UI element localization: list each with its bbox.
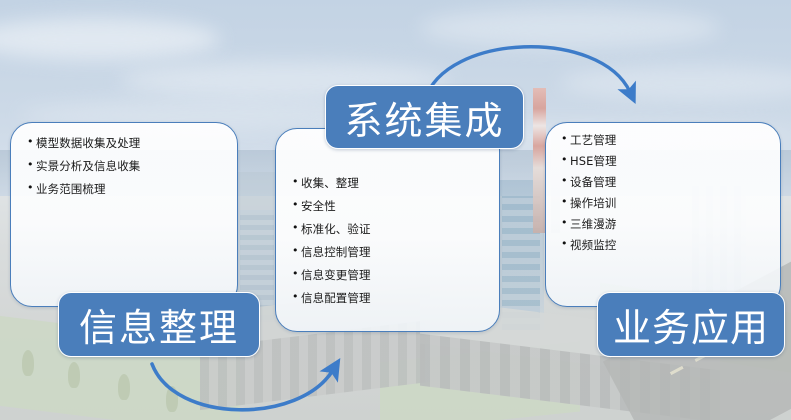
panel-body: 工艺管理 HSE管理 设备管理 操作培训 三维漫游 视频监控 (546, 123, 780, 270)
chip-business-application[interactable]: 业务应用 (597, 292, 785, 357)
bullet-list-information-organization: 模型数据收集及处理 实景分析及信息收集 业务范围梳理 (27, 137, 223, 195)
background-tree (166, 386, 178, 412)
list-item: HSE管理 (561, 155, 766, 167)
list-item: 工艺管理 (561, 134, 766, 146)
panel-body: 收集、整理 安全性 标准化、验证 信息控制管理 信息变更管理 信息配置管理 (276, 129, 499, 325)
list-item: 三维漫游 (561, 218, 766, 230)
list-item: 业务范围梳理 (27, 183, 223, 195)
background-tree (22, 350, 34, 376)
chip-system-integration[interactable]: 系统集成 (325, 85, 524, 149)
panel-system-integration[interactable]: 收集、整理 安全性 标准化、验证 信息控制管理 信息变更管理 信息配置管理 (275, 128, 500, 332)
panel-body: 模型数据收集及处理 实景分析及信息收集 业务范围梳理 (11, 123, 237, 216)
panel-information-organization[interactable]: 模型数据收集及处理 实景分析及信息收集 业务范围梳理 (10, 122, 238, 307)
list-item: 安全性 (292, 200, 485, 212)
list-item: 实景分析及信息收集 (27, 160, 223, 172)
list-item: 操作培训 (561, 197, 766, 209)
chip-information-organization[interactable]: 信息整理 (58, 292, 260, 357)
list-item: 标准化、验证 (292, 223, 485, 235)
list-item: 设备管理 (561, 176, 766, 188)
cloud-shape (420, 8, 720, 48)
list-item: 信息配置管理 (292, 292, 485, 304)
diagram-canvas: 模型数据收集及处理 实景分析及信息收集 业务范围梳理 收集、整理 安全性 标准化… (0, 0, 791, 420)
bullet-list-business-application: 工艺管理 HSE管理 设备管理 操作培训 三维漫游 视频监控 (561, 134, 766, 251)
list-item: 信息变更管理 (292, 269, 485, 281)
list-item: 模型数据收集及处理 (27, 137, 223, 149)
list-item: 收集、整理 (292, 177, 485, 189)
list-item: 视频监控 (561, 239, 766, 251)
background-tree (68, 362, 80, 388)
list-item: 信息控制管理 (292, 246, 485, 258)
bullet-list-system-integration: 收集、整理 安全性 标准化、验证 信息控制管理 信息变更管理 信息配置管理 (292, 177, 485, 304)
panel-business-application[interactable]: 工艺管理 HSE管理 设备管理 操作培训 三维漫游 视频监控 (545, 122, 781, 307)
background-tree (118, 374, 130, 400)
